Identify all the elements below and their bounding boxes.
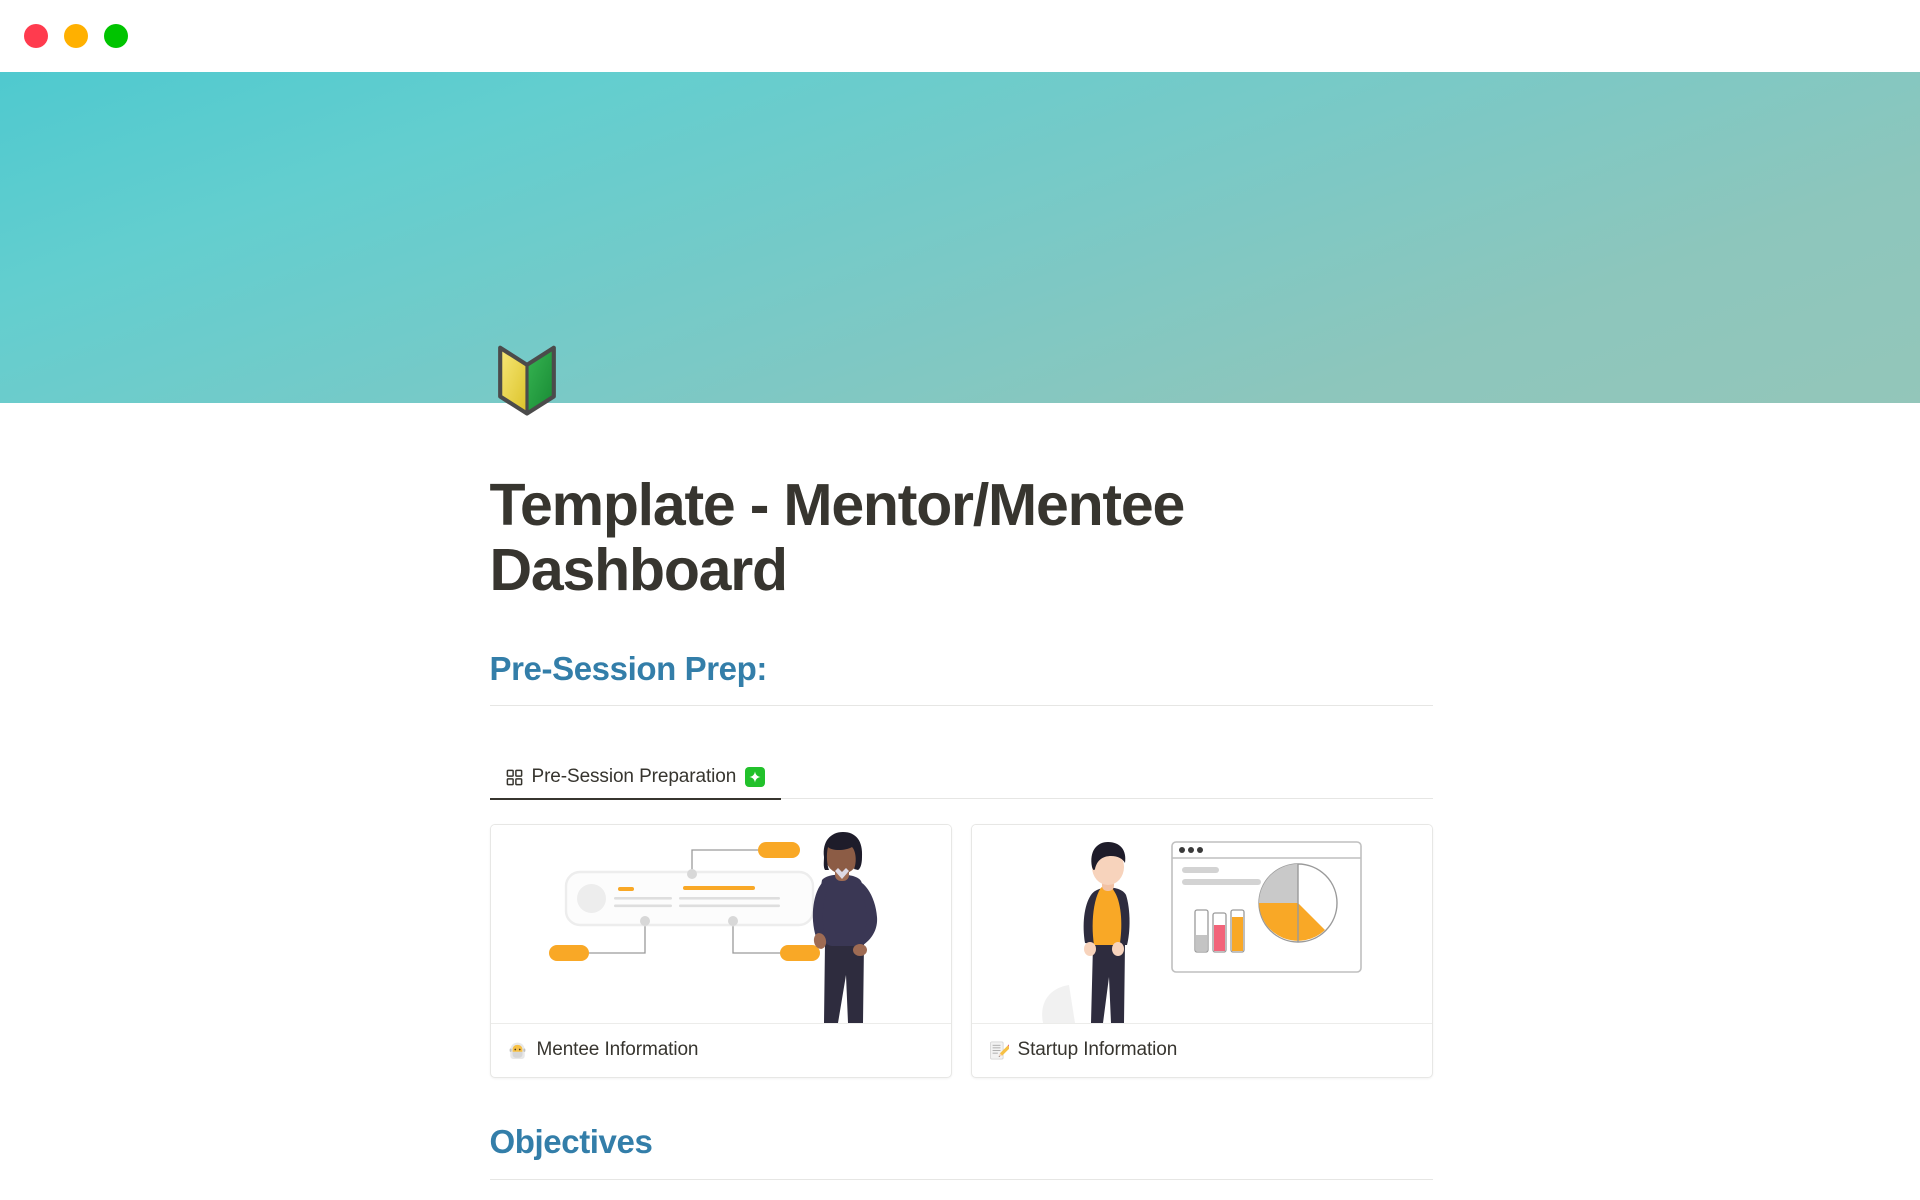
window-title-bar	[0, 0, 1920, 72]
page-body: Template - Mentor/Mentee Dashboard Pre-S…	[0, 403, 1920, 1200]
gallery-view-icon	[506, 769, 523, 786]
gallery-view: Mentee Information	[490, 824, 1433, 1078]
gallery-card-title: Startup Information	[1018, 1039, 1178, 1061]
page-title[interactable]: Template - Mentor/Mentee Dashboard	[490, 403, 1433, 603]
database-tab-bar: Pre-Session Preparation	[490, 766, 1433, 799]
memo-emoji	[988, 1040, 1009, 1061]
gallery-card-startup-information[interactable]: Startup Information	[971, 824, 1433, 1078]
gallery-card-title: Mentee Information	[537, 1039, 699, 1061]
gallery-card-footer: Startup Information	[972, 1023, 1432, 1077]
gallery-card-mentee-information[interactable]: Mentee Information	[490, 824, 952, 1078]
astronaut-emoji	[507, 1040, 528, 1061]
minimize-window-button[interactable]	[64, 24, 88, 48]
person-with-profile-card-illustration	[491, 825, 951, 1023]
tab-label: Pre-Session Preparation	[532, 766, 737, 788]
gallery-card-footer: Mentee Information	[491, 1023, 951, 1077]
section-heading-pre-session-prep[interactable]: Pre-Session Prep:	[490, 649, 1433, 689]
person-with-analytics-dashboard-illustration	[972, 825, 1432, 1023]
close-window-button[interactable]	[24, 24, 48, 48]
beginner-symbol-icon[interactable]	[488, 338, 566, 416]
tab-pre-session-preparation[interactable]: Pre-Session Preparation	[490, 766, 782, 799]
section-heading-objectives[interactable]: Objectives	[490, 1122, 1433, 1162]
maximize-window-button[interactable]	[104, 24, 128, 48]
green-sparkle-icon	[745, 767, 765, 787]
content-column: Template - Mentor/Mentee Dashboard Pre-S…	[488, 403, 1433, 1200]
page-cover-image[interactable]	[0, 72, 1920, 403]
